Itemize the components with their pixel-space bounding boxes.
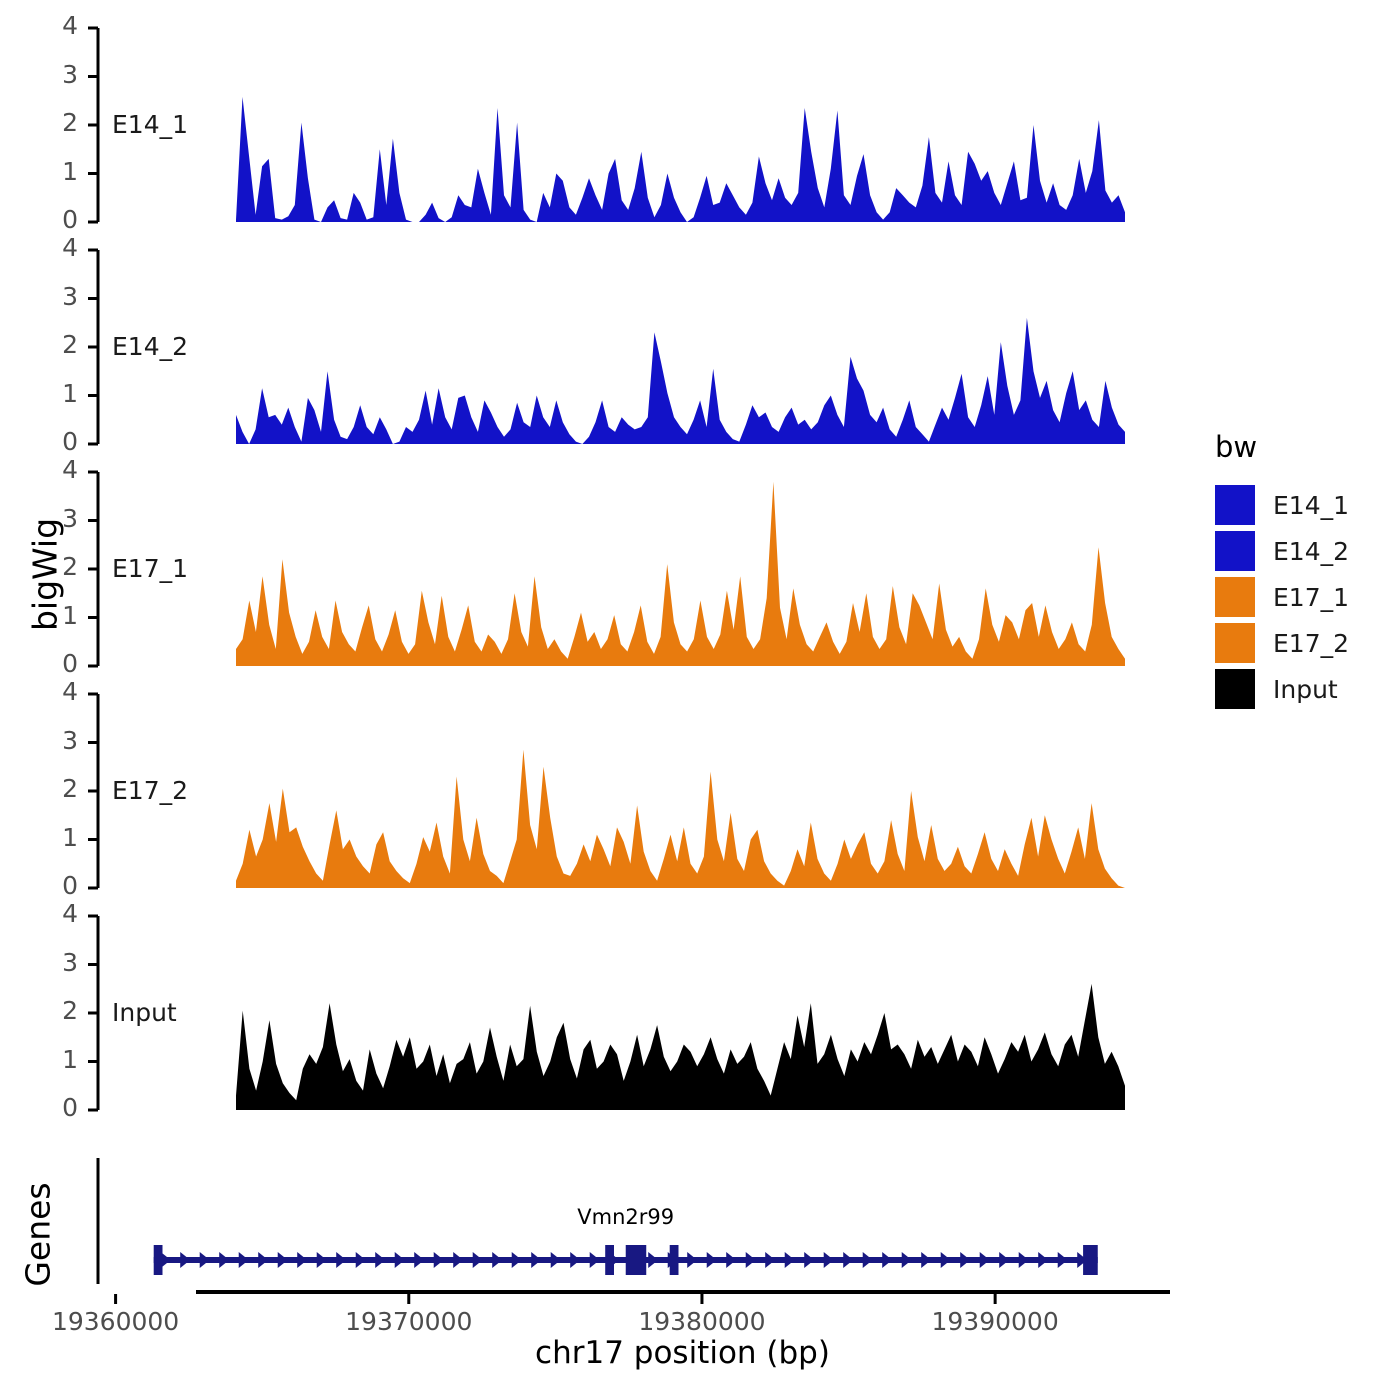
legend-item-label: E17_1	[1273, 583, 1349, 612]
x-axis-title: chr17 position (bp)	[195, 1335, 1170, 1371]
y-tick-label: 3	[8, 728, 78, 753]
track-name-e17_2: E17_2	[112, 776, 188, 805]
gene-label: Vmn2r99	[466, 1205, 786, 1229]
y-tick-label: 1	[8, 603, 78, 628]
y-tick-label: 0	[8, 873, 78, 898]
x-tick-label: 19360000	[6, 1307, 226, 1336]
y-tick-label: 4	[8, 457, 78, 482]
x-tick-label: 19390000	[885, 1307, 1105, 1336]
y-tick-label: 0	[8, 207, 78, 232]
legend-swatch-icon	[1215, 577, 1255, 617]
y-tick-label: 1	[8, 1047, 78, 1072]
y-tick-label: 2	[8, 776, 78, 801]
legend-item-e17_2[interactable]: E17_2	[1215, 620, 1395, 666]
y-tick-label: 1	[8, 159, 78, 184]
y-tick-label: 3	[8, 506, 78, 531]
legend: bw E14_1E14_2E17_1E17_2Input	[1215, 430, 1395, 712]
legend-swatch-icon	[1215, 623, 1255, 663]
y-tick-label: 3	[8, 950, 78, 975]
x-tick-label: 19380000	[592, 1307, 812, 1336]
y-tick-label: 2	[8, 998, 78, 1023]
legend-item-label: E17_2	[1273, 629, 1349, 658]
legend-item-e14_2[interactable]: E14_2	[1215, 528, 1395, 574]
x-tick-label: 19370000	[299, 1307, 519, 1336]
y-tick-label: 1	[8, 825, 78, 850]
y-tick-label: 3	[8, 62, 78, 87]
y-tick-label: 2	[8, 332, 78, 357]
legend-item-input[interactable]: Input	[1215, 666, 1395, 712]
y-tick-label: 4	[8, 235, 78, 260]
track-name-input: Input	[112, 998, 177, 1027]
legend-item-e17_1[interactable]: E17_1	[1215, 574, 1395, 620]
legend-item-label: E14_1	[1273, 491, 1349, 520]
legend-swatch-icon	[1215, 531, 1255, 571]
legend-item-label: Input	[1273, 675, 1338, 704]
y-tick-label: 0	[8, 651, 78, 676]
y-tick-label: 3	[8, 284, 78, 309]
legend-item-label: E14_2	[1273, 537, 1349, 566]
track-name-e17_1: E17_1	[112, 554, 188, 583]
legend-title: bw	[1215, 430, 1395, 464]
legend-items: E14_1E14_2E17_1E17_2Input	[1215, 482, 1395, 712]
y-tick-label: 2	[8, 110, 78, 135]
track-name-e14_1: E14_1	[112, 110, 188, 139]
y-tick-label: 4	[8, 13, 78, 38]
legend-swatch-icon	[1215, 485, 1255, 525]
legend-swatch-icon	[1215, 669, 1255, 709]
track-name-e14_2: E14_2	[112, 332, 188, 361]
y-tick-label: 1	[8, 381, 78, 406]
y-tick-label: 4	[8, 679, 78, 704]
y-tick-label: 2	[8, 554, 78, 579]
legend-item-e14_1[interactable]: E14_1	[1215, 482, 1395, 528]
y-tick-label: 0	[8, 429, 78, 454]
y-tick-label: 4	[8, 901, 78, 926]
y-tick-label: 0	[8, 1095, 78, 1120]
